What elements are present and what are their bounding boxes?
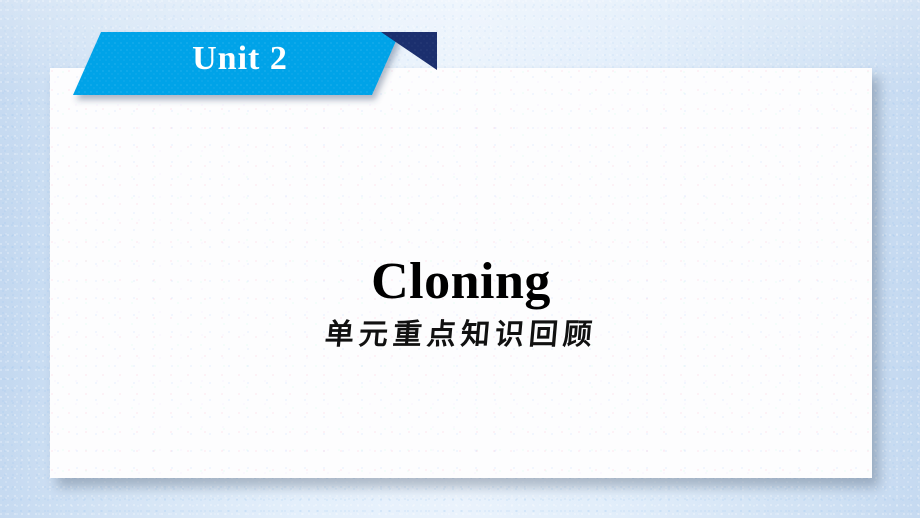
page-subtitle: 单元重点知识回顾 [49,320,874,349]
unit-label: Unit 2 [150,42,330,76]
banner-corner-fold-texture [381,32,437,70]
page-title: Cloning [50,256,872,308]
banner-corner-fold [381,32,437,70]
content-card: Cloning 单元重点知识回顾 [50,68,872,478]
slide-canvas: Cloning 单元重点知识回顾 Unit 2 [0,0,920,518]
